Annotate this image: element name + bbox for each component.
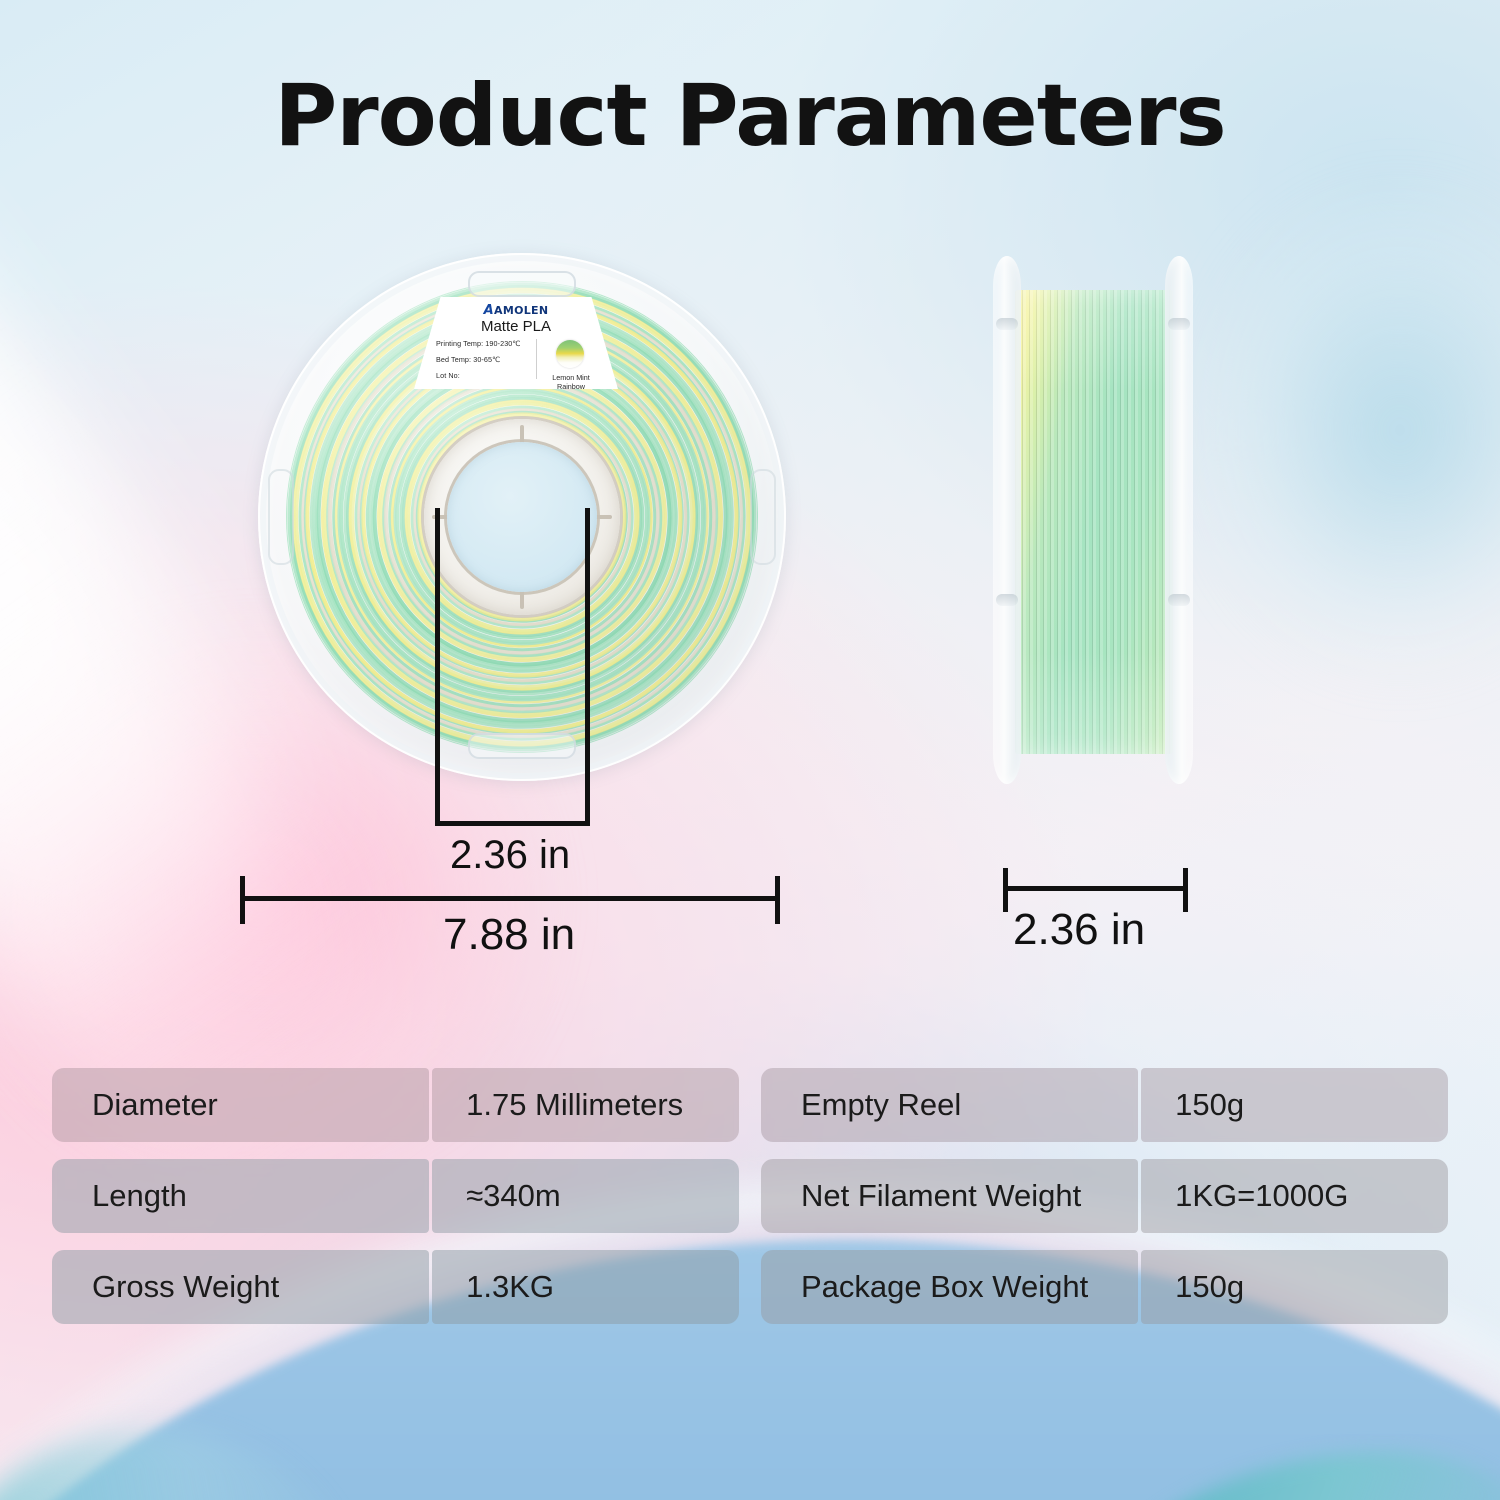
label-spec-list: Printing Temp: 190-230℃ Bed Temp: 30-65℃… — [436, 339, 532, 387]
dim-side-line — [1003, 886, 1188, 891]
spec-key-length: Length — [52, 1159, 429, 1233]
filament-spool-side-view — [993, 256, 1193, 784]
spec-key-empty-reel: Empty Reel — [761, 1068, 1138, 1142]
dim-inner-right-line — [585, 508, 590, 826]
spec-key-package-box-weight: Package Box Weight — [761, 1250, 1138, 1324]
spool-side-notch-br — [1168, 594, 1190, 606]
label-divider — [536, 339, 537, 379]
label-color-name: Lemon Mint Rainbow — [540, 373, 602, 391]
label-lot-no: Lot No: — [436, 371, 532, 380]
spool-side-notch-tl — [996, 318, 1018, 330]
dim-label-outer-diameter: 7.88 in — [443, 910, 575, 960]
spool-side-notch-bl — [996, 594, 1018, 606]
dim-outer-line — [240, 896, 780, 901]
spool-product-label: AAMOLEN Matte PLA Printing Temp: 190-230… — [414, 297, 618, 389]
spec-pair-left-1: Length ≈340m — [52, 1159, 739, 1233]
label-material-name: Matte PLA — [414, 318, 618, 335]
dim-inner-left-line — [435, 508, 440, 826]
spec-value-package-box-weight: 150g — [1141, 1250, 1448, 1324]
spool-handle-slot-top — [468, 271, 576, 297]
brand-logo: AAMOLEN — [414, 303, 618, 318]
spec-value-net-filament-weight: 1KG=1000G — [1141, 1159, 1448, 1233]
table-row: Gross Weight 1.3KG Package Box Weight 15… — [52, 1250, 1448, 1324]
spec-key-gross-weight: Gross Weight — [52, 1250, 429, 1324]
infographic-canvas: Product Parameters AAMOLEN Matte PLA Pri… — [0, 0, 1500, 1500]
spec-table: Diameter 1.75 Millimeters Empty Reel 150… — [52, 1068, 1448, 1341]
spool-side-flange-right — [1165, 256, 1193, 784]
spec-pair-left-0: Diameter 1.75 Millimeters — [52, 1068, 739, 1142]
spec-value-empty-reel: 150g — [1141, 1068, 1448, 1142]
spool-side-notch-tr — [1168, 318, 1190, 330]
filament-winding-side-highlight — [1015, 290, 1173, 754]
spec-value-diameter: 1.75 Millimeters — [432, 1068, 739, 1142]
spool-handle-slot-right — [750, 469, 776, 565]
dim-label-side-width: 2.36 in — [1013, 905, 1145, 955]
table-row: Diameter 1.75 Millimeters Empty Reel 150… — [52, 1068, 1448, 1142]
dim-inner-bottom-line — [435, 821, 590, 826]
table-row: Length ≈340m Net Filament Weight 1KG=100… — [52, 1159, 1448, 1233]
spec-pair-right-1: Net Filament Weight 1KG=1000G — [761, 1159, 1448, 1233]
spec-key-diameter: Diameter — [52, 1068, 429, 1142]
spool-handle-slot-bottom — [468, 733, 576, 759]
spool-handle-slot-left — [268, 469, 294, 565]
color-swatch-icon — [556, 340, 584, 368]
spool-side-flange-left — [993, 256, 1021, 784]
brand-initial: A — [484, 303, 494, 318]
brand-name: AMOLEN — [494, 304, 548, 317]
page-title: Product Parameters — [0, 66, 1500, 166]
background-cyan-glow — [1140, 120, 1500, 740]
label-bed-temp: Bed Temp: 30-65℃ — [436, 355, 532, 364]
spec-key-net-filament-weight: Net Filament Weight — [761, 1159, 1138, 1233]
dim-label-inner-diameter: 2.36 in — [450, 833, 570, 878]
spec-pair-right-0: Empty Reel 150g — [761, 1068, 1448, 1142]
spec-value-length: ≈340m — [432, 1159, 739, 1233]
spec-pair-right-2: Package Box Weight 150g — [761, 1250, 1448, 1324]
spool-center-hole — [447, 442, 597, 592]
spec-value-gross-weight: 1.3KG — [432, 1250, 739, 1324]
spec-pair-left-2: Gross Weight 1.3KG — [52, 1250, 739, 1324]
label-printing-temp: Printing Temp: 190-230℃ — [436, 339, 532, 348]
